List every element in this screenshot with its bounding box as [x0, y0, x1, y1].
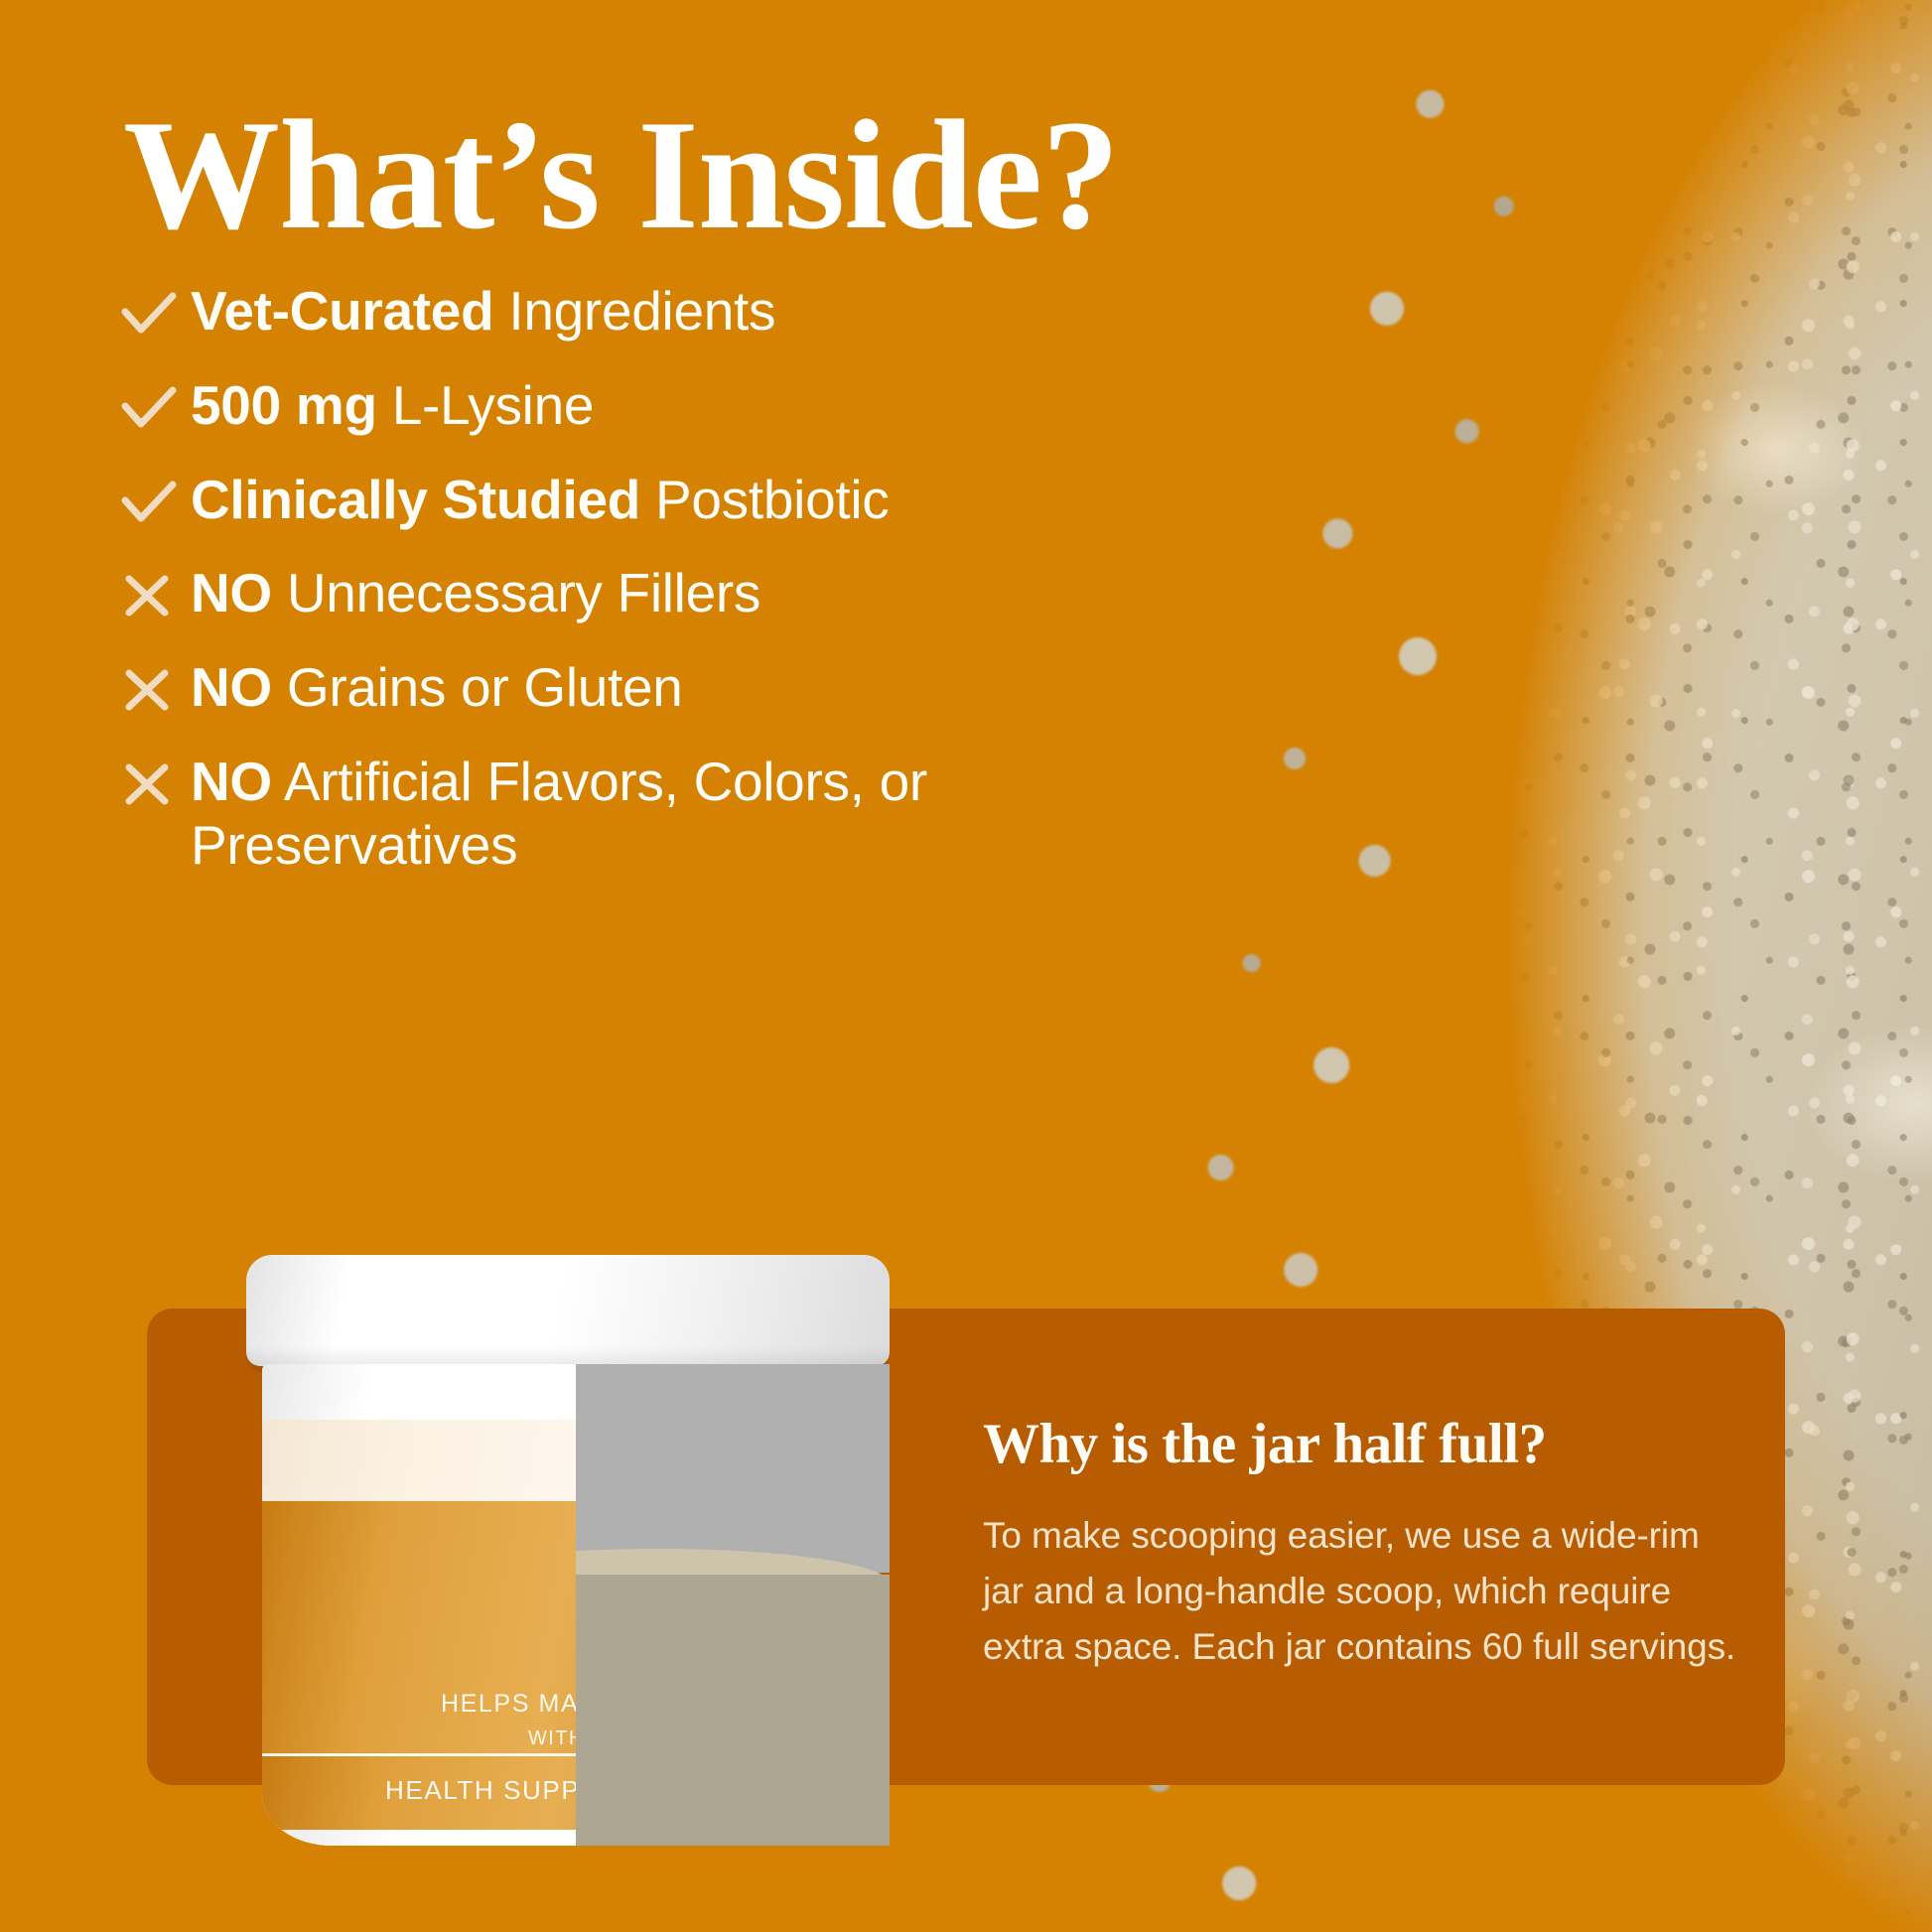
- feature-label-bold: NO: [191, 751, 272, 812]
- list-item: Clinically Studied Postbiotic: [119, 469, 1211, 532]
- list-item: Vet-Curated Ingredients: [119, 280, 1211, 344]
- feature-label-rest: Unnecessary Fillers: [272, 562, 760, 623]
- cross-icon: [119, 562, 191, 623]
- check-icon: [119, 469, 191, 530]
- feature-label: NO Artificial Flavors, Colors, or Preser…: [191, 751, 1015, 878]
- feature-label-bold: 500 mg: [191, 374, 377, 436]
- jar-label-cream-band: [262, 1420, 874, 1501]
- feature-label: Clinically Studied Postbiotic: [191, 469, 889, 532]
- jar-product-name-line1: Lysine: [590, 1559, 819, 1623]
- feature-label: NO Unnecessary Fillers: [191, 562, 760, 625]
- feature-label-rest: L-Lysine: [377, 374, 594, 436]
- check-icon: [119, 374, 191, 436]
- jar-subtitle-secondary: WITH QUERCETIN + POSTBIOTIC: [528, 1727, 874, 1750]
- feature-label: Vet-Curated Ingredients: [191, 280, 775, 344]
- page-title: What’s Inside?: [123, 97, 1119, 254]
- jar-footer-text: HEALTH SUPPLEMENT FOR CATS: [385, 1775, 844, 1806]
- feature-label: 500 mg L-Lysine: [191, 374, 594, 438]
- feature-list: Vet-Curated Ingredients 500 mg L-Lysine …: [119, 280, 1211, 908]
- info-card-text: Why is the jar half full? To make scoopi…: [983, 1414, 1737, 1675]
- feature-label-bold: NO: [191, 562, 272, 623]
- jar-subtitle: HELPS MAINTAIN A HEALTHY IMMUNE SYSTEM: [441, 1690, 874, 1719]
- jar-product-name: Lysine Immune: [590, 1559, 819, 1689]
- feature-label-bold: Clinically Studied: [191, 469, 640, 530]
- feature-label-bold: NO: [191, 656, 272, 718]
- list-item: NO Unnecessary Fillers: [119, 562, 1211, 625]
- cross-icon: [119, 656, 191, 718]
- jar-product-name-line2: Immune: [590, 1623, 819, 1688]
- feature-label-rest: Ingredients: [493, 280, 775, 342]
- feature-label-rest: Postbiotic: [640, 469, 889, 530]
- jar-body: fera POWDER Lysine Immune HELPS MAINTAIN…: [262, 1420, 874, 1846]
- product-jar-image: fera POWDER Lysine Immune HELPS MAINTAIN…: [246, 1255, 890, 1846]
- list-item: NO Artificial Flavors, Colors, or Preser…: [119, 751, 1211, 878]
- cross-icon: [119, 751, 191, 812]
- list-item: NO Grains or Gluten: [119, 656, 1211, 720]
- feature-label-rest: Grains or Gluten: [272, 656, 683, 718]
- info-card-title: Why is the jar half full?: [983, 1414, 1737, 1476]
- jar-badge: POWDER: [615, 1515, 763, 1551]
- check-icon: [119, 280, 191, 342]
- info-card-body: To make scooping easier, we use a wide-r…: [983, 1508, 1737, 1676]
- jar-foot: [262, 1830, 874, 1846]
- list-item: 500 mg L-Lysine: [119, 374, 1211, 438]
- feature-label-bold: Vet-Curated: [191, 280, 493, 342]
- jar-neck: [262, 1364, 874, 1426]
- feature-label: NO Grains or Gluten: [191, 656, 683, 720]
- feature-label-rest: Artificial Flavors, Colors, or Preservat…: [191, 751, 927, 876]
- brand-logo: fera: [590, 1434, 678, 1495]
